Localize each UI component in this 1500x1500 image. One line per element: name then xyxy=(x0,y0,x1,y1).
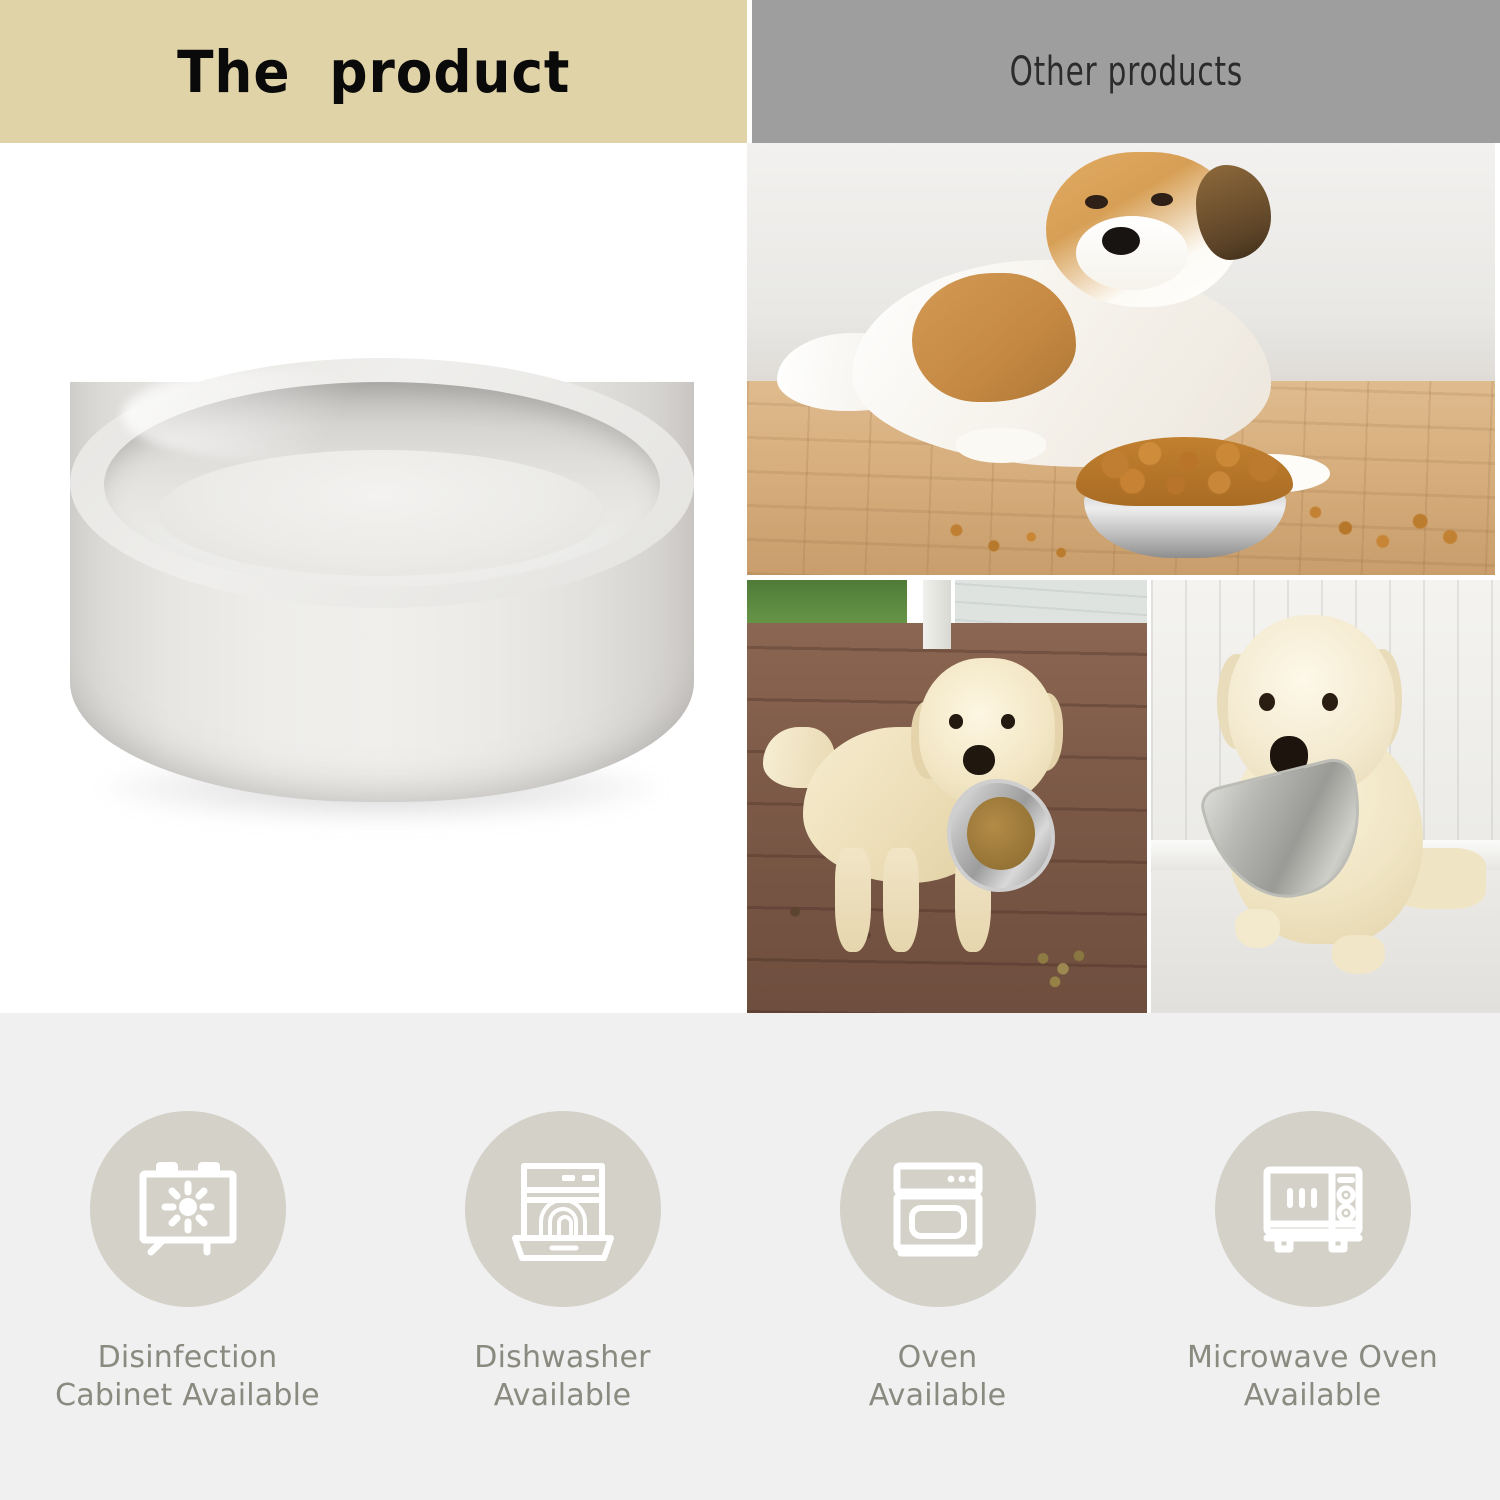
content-row xyxy=(0,143,1500,1013)
bowl-rim-highlight xyxy=(122,370,422,460)
golden-bowl-food xyxy=(967,797,1035,871)
lab-eye-right xyxy=(1322,693,1338,711)
photo-lab-puppy xyxy=(1151,580,1500,1013)
feature-oven: Oven Available xyxy=(773,1111,1103,1416)
terrier-paw-rear xyxy=(956,428,1046,463)
feature-label-oven: Oven Available xyxy=(869,1339,1007,1416)
photo-terrier xyxy=(747,143,1495,575)
other-products-header-panel: Other products xyxy=(752,0,1500,143)
terrier-eye-left xyxy=(1085,195,1107,209)
lab-paw-right xyxy=(1332,935,1384,974)
oven-icon xyxy=(879,1150,997,1268)
features-band: Disinfection Cabinet Available Dis xyxy=(0,1013,1500,1500)
feature-microwave-oven: Microwave Oven Available xyxy=(1148,1111,1478,1416)
feature-dishwasher: Dishwasher Available xyxy=(398,1111,728,1416)
terrier-brown-patch xyxy=(912,273,1077,403)
feature-label-disinfection-cabinet: Disinfection Cabinet Available xyxy=(55,1339,320,1416)
lab-paw-left xyxy=(1235,909,1280,948)
microwave-oven-icon-circle xyxy=(1215,1111,1411,1307)
bowl-inner-floor xyxy=(158,450,604,576)
photo-golden-puppy xyxy=(747,580,1147,1013)
product-image-panel xyxy=(0,143,747,1013)
golden-porch-post xyxy=(923,580,951,649)
feature-label-dishwasher: Dishwasher Available xyxy=(474,1339,650,1416)
product-bowl-image xyxy=(62,358,702,858)
product-header-title: The product xyxy=(177,38,570,106)
lab-eye-left xyxy=(1259,693,1275,711)
feature-label-microwave-oven: Microwave Oven Available xyxy=(1187,1339,1438,1416)
disinfection-cabinet-icon xyxy=(129,1150,247,1268)
header-bar: The product Other products xyxy=(0,0,1500,143)
other-products-gallery xyxy=(747,143,1500,1013)
golden-scattered-food xyxy=(747,883,1147,1013)
product-header-panel: The product xyxy=(0,0,747,143)
golden-leg-rear xyxy=(835,848,871,952)
feature-disinfection-cabinet: Disinfection Cabinet Available xyxy=(23,1111,353,1416)
oven-icon-circle xyxy=(840,1111,1036,1307)
other-products-header-title: Other products xyxy=(1009,49,1242,95)
dishwasher-icon-circle xyxy=(465,1111,661,1307)
golden-nose xyxy=(963,745,995,775)
terrier-muzzle xyxy=(1076,216,1188,289)
golden-leg-mid xyxy=(883,848,919,952)
dishwasher-icon xyxy=(504,1150,622,1268)
disinfection-cabinet-icon-circle xyxy=(90,1111,286,1307)
microwave-oven-icon xyxy=(1254,1150,1372,1268)
